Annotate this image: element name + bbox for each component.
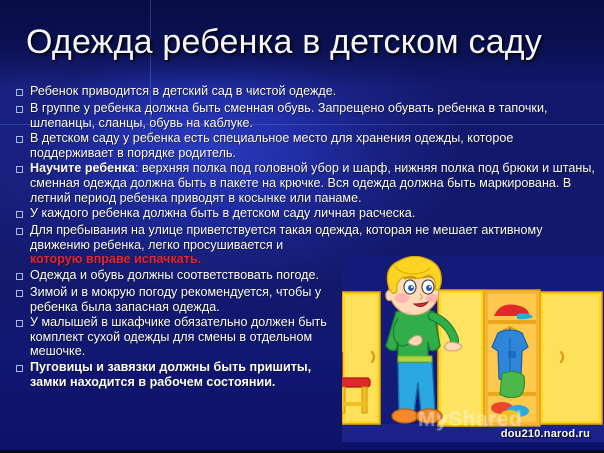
- bullet-item: У каждого ребенка должна быть в детском …: [8, 206, 600, 222]
- bullet-item: Ребенок приводится в детский сад в чисто…: [8, 84, 600, 100]
- bullet-text: Одежда и обувь должны соответствовать по…: [30, 268, 334, 283]
- presentation-slide: Одежда ребенка в детском саду Ребенок пр…: [0, 0, 604, 453]
- bullet-square-icon: [8, 360, 30, 376]
- bullet-square-icon: [8, 315, 30, 331]
- bullet-square-icon: [8, 101, 30, 117]
- illustration-boy-at-lockers: [342, 256, 604, 442]
- bullet-square-icon: [8, 206, 30, 222]
- bullet-text: Ребенок приводится в детский сад в чисто…: [30, 84, 600, 99]
- locker-right: [540, 292, 602, 424]
- slide-title: Одежда ребенка в детском саду: [26, 22, 542, 62]
- bullet-square-icon: [8, 84, 30, 100]
- bullet-square-icon: [8, 223, 30, 239]
- bullet-square-icon: [8, 161, 30, 177]
- bullet-text: У малышей в шкафчике обязательно должен …: [30, 315, 334, 359]
- watermark-site-url: dou210.narod.ru: [501, 428, 590, 440]
- bullet-text: В группе у ребенка должна быть сменная о…: [30, 101, 600, 130]
- bullet-item: В детском саду у ребенка есть специально…: [8, 131, 600, 160]
- bullet-text: У каждого ребенка должна быть в детском …: [30, 206, 600, 221]
- locker-compartment: [484, 290, 540, 426]
- bullet-text: Зимой и в мокрую погоду рекомендуется, ч…: [30, 285, 334, 314]
- bullet-text: В детском саду у ребенка есть специально…: [30, 131, 600, 160]
- bullet-lead-text: Научите ребенка: [30, 161, 135, 175]
- bullet-text: Научите ребенка: верхняя полка под голов…: [30, 161, 600, 205]
- bullet-item: Научите ребенка: верхняя полка под голов…: [8, 161, 600, 205]
- bullet-square-icon: [8, 285, 30, 301]
- bullet-text: Пуговицы и завязки должны быть пришиты, …: [30, 360, 334, 389]
- bullet-square-icon: [8, 131, 30, 147]
- bullet-square-icon: [8, 268, 30, 284]
- locker-open-door: [438, 290, 484, 426]
- bullet-item: В группе у ребенка должна быть сменная о…: [8, 101, 600, 130]
